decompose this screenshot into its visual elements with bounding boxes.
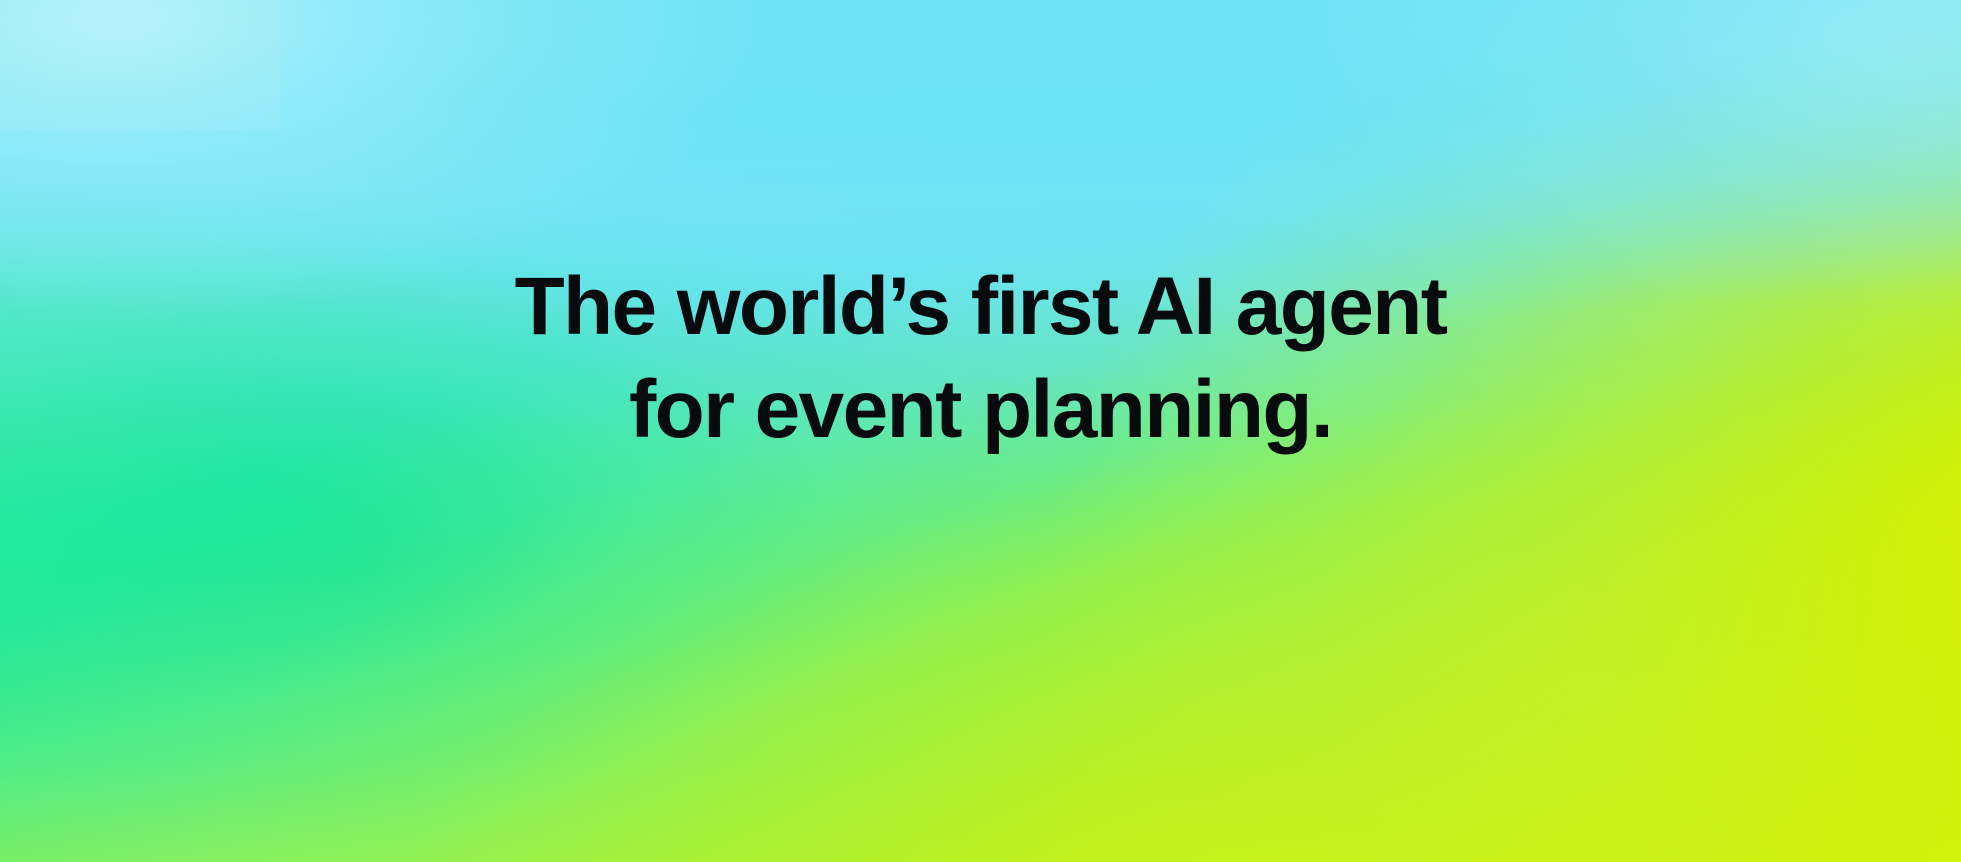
headline-line-1: The world’s first AI agent — [0, 255, 1961, 358]
gradient-highlight-top-left — [0, 0, 1961, 862]
gradient-highlight-top-right — [0, 0, 1961, 862]
hero-headline: The world’s first AI agent for event pla… — [0, 255, 1961, 461]
gradient-cyan-top-blob — [0, 0, 1961, 862]
gradient-bottom-bleed — [0, 0, 1961, 862]
gradient-lime-bottom-right-blob — [0, 0, 1961, 862]
gradient-green-core-blob — [0, 0, 1961, 862]
gradient-lime-right-blob — [0, 0, 1961, 862]
film-grain-overlay — [0, 0, 280, 130]
headline-line-2: for event planning. — [0, 358, 1961, 461]
gradient-bottom-right-deepen — [0, 0, 1961, 862]
gradient-green-left-blob — [0, 0, 1961, 862]
hero-banner: The world’s first AI agent for event pla… — [0, 0, 1961, 862]
gradient-base-layer — [0, 0, 1961, 862]
